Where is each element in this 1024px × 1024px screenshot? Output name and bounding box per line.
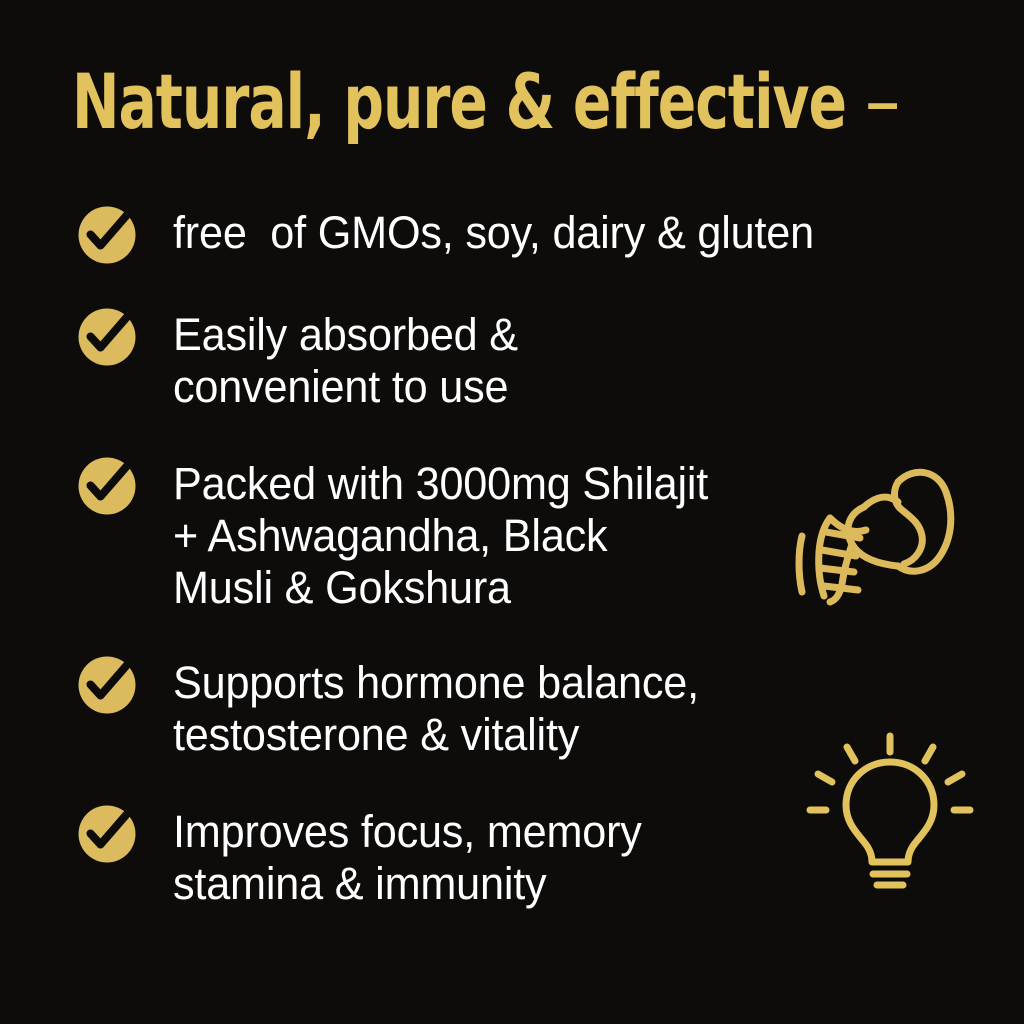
check-circle-icon [78, 308, 136, 366]
check-circle-icon [78, 656, 136, 714]
product-benefits-poster: Natural, pure & effective – free of GM [0, 0, 1024, 1024]
list-item: free of GMOs, soy, dairy & gluten [78, 206, 968, 264]
list-item-line: Supports hormone balance, [173, 657, 936, 709]
check-circle-icon [78, 457, 136, 515]
page-title: Natural, pure & effective – [72, 64, 992, 142]
list-item-text: free of GMOs, soy, dairy & gluten [173, 206, 968, 259]
page-title-text: Natural, pure & effective [72, 64, 846, 140]
list-item-line: convenient to use [173, 361, 936, 413]
list-item: Easily absorbed & convenient to use [78, 308, 968, 413]
lightbulb-icon [802, 728, 978, 894]
check-circle-icon [78, 206, 136, 264]
title-trailing-dash: – [867, 69, 899, 136]
list-item-line: free of GMOs, soy, dairy & gluten [173, 207, 936, 259]
list-item-line: Easily absorbed & [173, 309, 936, 361]
list-item-text: Easily absorbed & convenient to use [173, 308, 968, 413]
check-circle-icon [78, 805, 136, 863]
flexed-bicep-icon [786, 452, 962, 618]
